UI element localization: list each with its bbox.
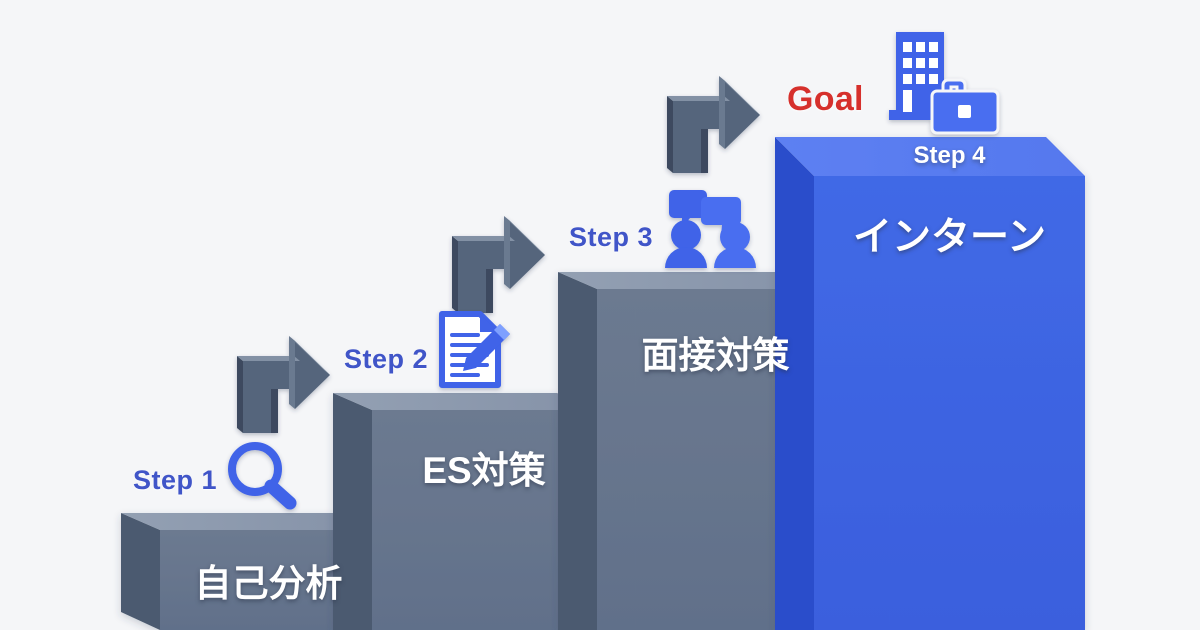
- bar-1-side: [121, 513, 160, 630]
- bar-2-title: ES対策: [372, 440, 596, 494]
- arrow-1-shade-left: [237, 356, 243, 433]
- staircase-chart: Step 1 Step 2 Step 3 Goal Step 4 自己分析 ES…: [0, 0, 1200, 630]
- bar-2-top: [333, 393, 596, 410]
- two-people-chat-icon: [665, 190, 756, 268]
- magnifier-icon: [232, 446, 290, 503]
- bar-1-title: 自己分析: [160, 553, 377, 607]
- arrow-step-2: [452, 216, 545, 313]
- arrow-1-head-upper: [289, 336, 295, 409]
- step-4-top-label: Step 4: [814, 142, 1085, 170]
- arrow-2-shade-left: [452, 236, 458, 313]
- arrow-step-1: [237, 336, 330, 433]
- bar-3-title: 面接対策: [597, 325, 834, 379]
- bar-4-side: [775, 137, 814, 630]
- office-building-briefcase-icon: [889, 32, 998, 133]
- arrow-3-head-upper: [719, 76, 725, 149]
- arrow-2-inner: [486, 269, 493, 313]
- arrow-3-shade-left: [667, 96, 673, 173]
- arrow-2-head: [510, 221, 545, 289]
- chart-canvas: [0, 0, 1200, 630]
- bar-4-title: インターン: [814, 206, 1085, 262]
- arrow-1-head: [295, 341, 330, 409]
- arrow-1-inner: [271, 389, 278, 433]
- arrow-3-head: [725, 81, 760, 149]
- document-pencil-icon: [442, 314, 510, 385]
- arrow-3-inner: [701, 129, 708, 173]
- arrow-2-head-upper: [504, 216, 510, 289]
- arrow-step-3: [667, 76, 760, 173]
